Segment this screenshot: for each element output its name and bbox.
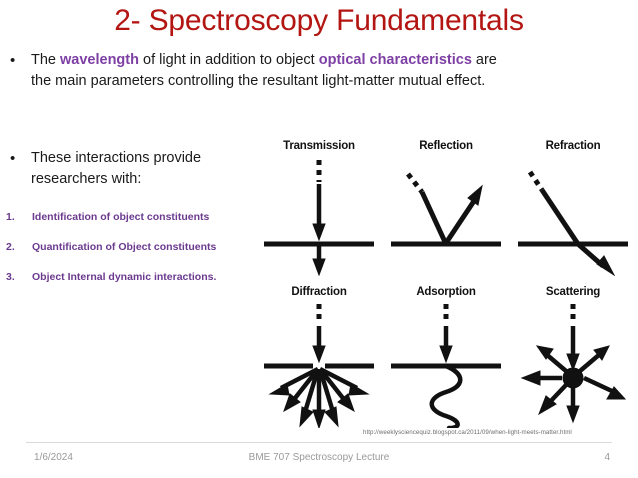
bullet-marker-icon: • — [10, 50, 31, 71]
figure-cell-adsorption: Adsorption — [383, 286, 509, 426]
bullet-2-line-1: These interactions provide — [31, 148, 245, 169]
list-item: 2. Quantification of Object constituents — [6, 240, 251, 254]
figure-label-diffraction: Diffraction — [256, 286, 382, 298]
bullet-1-seg-2: of light in addition to object — [139, 52, 319, 68]
figure-label-reflection: Reflection — [383, 140, 509, 152]
scattering-diagram-icon — [510, 302, 636, 428]
figure-label-transmission: Transmission — [256, 140, 382, 152]
list-item-number: 2. — [6, 240, 32, 254]
list-item-number: 3. — [6, 270, 32, 284]
highlight-optical-characteristics: optical characteristics — [319, 52, 472, 68]
footer-lecture-title: BME 707 Spectroscopy Lecture — [0, 452, 638, 463]
footer-page-number: 4 — [604, 452, 610, 463]
page-title: 2- Spectroscopy Fundamentals — [0, 2, 638, 40]
source-credit-url: http://weeklysciencequiz.blogspot.ca/201… — [363, 428, 572, 437]
diffraction-diagram-icon — [256, 302, 382, 428]
figure-label-refraction: Refraction — [510, 140, 636, 152]
figure-cell-reflection: Reflection — [383, 140, 509, 280]
bullet-1-text: The wavelength of light in addition to o… — [31, 50, 602, 92]
list-item-label: Object Internal dynamic interactions. — [32, 270, 251, 284]
figure-cell-transmission: Transmission — [256, 140, 382, 280]
slide-footer: 1/6/2024 BME 707 Spectroscopy Lecture 4 — [0, 442, 638, 478]
bullet-1-line-2: the main parameters controlling the resu… — [31, 71, 602, 92]
bullet-paragraph-1: • The wavelength of light in addition to… — [10, 50, 602, 92]
transmission-diagram-icon — [256, 156, 382, 276]
figure-label-scattering: Scattering — [510, 286, 636, 298]
bullet-1-seg-1: The — [31, 52, 60, 68]
numbered-list: 1. Identification of object constituents… — [6, 210, 251, 300]
list-item: 1. Identification of object constituents — [6, 210, 251, 224]
list-item-label: Quantification of Object constituents — [32, 240, 251, 254]
bullet-paragraph-2: • These interactions provide researchers… — [10, 148, 245, 190]
figure-cell-diffraction: Diffraction — [256, 286, 382, 426]
list-item-label: Identification of object constituents — [32, 210, 251, 224]
adsorption-diagram-icon — [383, 302, 509, 428]
bullet-2-text: These interactions provide researchers w… — [31, 148, 245, 190]
figure-cell-scattering: Scattering — [510, 286, 636, 426]
figure-label-adsorption: Adsorption — [383, 286, 509, 298]
footer-divider — [26, 442, 612, 443]
bullet-1-seg-3: are — [472, 52, 497, 68]
list-item: 3. Object Internal dynamic interactions. — [6, 270, 251, 284]
bullet-marker-icon: • — [10, 148, 31, 169]
figure-cell-refraction: Refraction — [510, 140, 636, 280]
light-matter-interaction-figure: Transmission Reflection R — [256, 140, 636, 430]
refraction-diagram-icon — [510, 156, 636, 276]
list-item-number: 1. — [6, 210, 32, 224]
bullet-2-line-2: researchers with: — [31, 169, 245, 190]
reflection-diagram-icon — [383, 156, 509, 276]
highlight-wavelength: wavelength — [60, 52, 139, 68]
